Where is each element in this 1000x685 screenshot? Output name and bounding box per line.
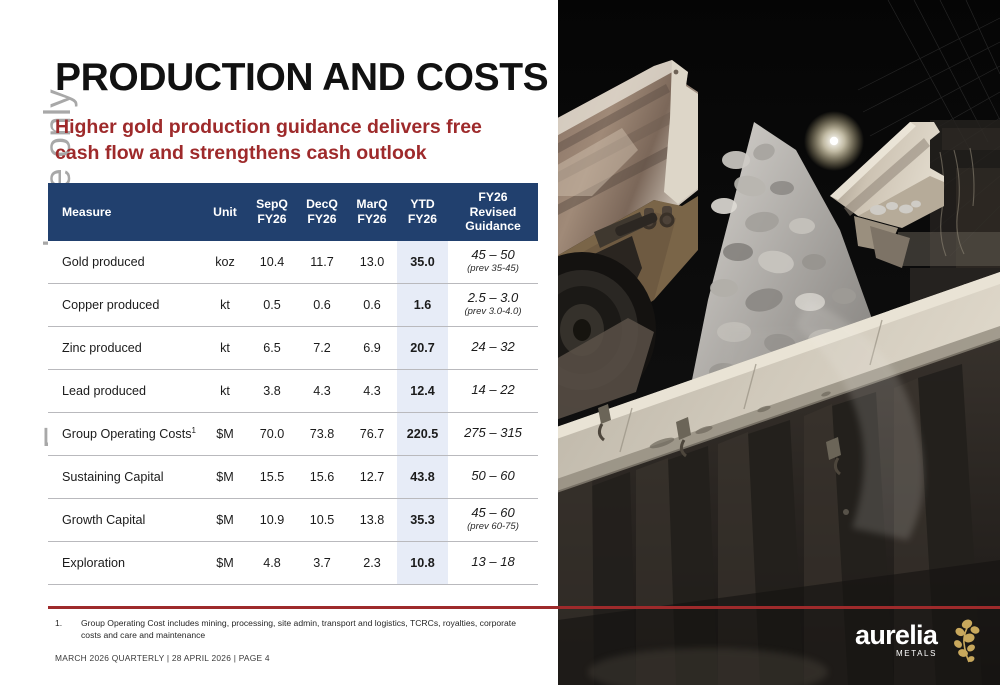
cell-marq: 2.3 <box>347 541 397 584</box>
cell-guidance: 14 – 22 <box>448 369 538 412</box>
col-marq-line2: FY26 <box>357 212 386 226</box>
cell-unit: kt <box>203 283 247 326</box>
footnote-number: 1. <box>55 617 62 629</box>
cell-sepq: 6.5 <box>247 326 297 369</box>
cell-sepq: 10.4 <box>247 241 297 284</box>
guidance-range: 14 – 22 <box>471 382 514 397</box>
logo-wordmark: aurelia <box>855 622 937 649</box>
cell-measure: Copper produced <box>48 283 203 326</box>
col-guidance-line3: Guidance <box>465 219 521 233</box>
guidance-range: 24 – 32 <box>471 339 514 354</box>
table-row: Zinc producedkt6.57.26.920.724 – 32 <box>48 326 538 369</box>
guidance-range: 50 – 60 <box>471 468 514 483</box>
cell-measure: Gold produced <box>48 241 203 284</box>
cell-decq: 15.6 <box>297 455 347 498</box>
cell-ytd: 43.8 <box>397 455 448 498</box>
cell-marq: 0.6 <box>347 283 397 326</box>
cell-ytd: 20.7 <box>397 326 448 369</box>
col-sepq-line1: SepQ <box>256 197 288 211</box>
table-body: Gold producedkoz10.411.713.035.045 – 50(… <box>48 241 538 585</box>
cell-marq: 6.9 <box>347 326 397 369</box>
table-header-row: Measure Unit SepQ FY26 DecQ FY26 MarQ F <box>48 183 538 241</box>
table-row: Sustaining Capital$M15.515.612.743.850 –… <box>48 455 538 498</box>
column-header-unit: Unit <box>203 183 247 241</box>
cell-guidance: 13 – 18 <box>448 541 538 584</box>
column-header-measure: Measure <box>48 183 203 241</box>
page-subtitle: Higher gold production guidance delivers… <box>55 114 495 166</box>
cell-unit: kt <box>203 326 247 369</box>
col-ytd-line2: FY26 <box>408 212 437 226</box>
cell-guidance: 45 – 50(prev 35-45) <box>448 241 538 284</box>
col-decq-line1: DecQ <box>306 197 338 211</box>
cell-decq: 0.6 <box>297 283 347 326</box>
footnote-text: Group Operating Cost includes mining, pr… <box>81 617 525 642</box>
logo-subtext: METALS <box>896 649 937 658</box>
column-header-sepq: SepQ FY26 <box>247 183 297 241</box>
footnote-marker: 1 <box>192 426 196 435</box>
cell-unit: koz <box>203 241 247 284</box>
cell-sepq: 4.8 <box>247 541 297 584</box>
cell-sepq: 10.9 <box>247 498 297 541</box>
production-and-costs-table: Measure Unit SepQ FY26 DecQ FY26 MarQ F <box>48 183 538 585</box>
cell-unit: $M <box>203 541 247 584</box>
cell-decq: 11.7 <box>297 241 347 284</box>
cell-decq: 73.8 <box>297 412 347 455</box>
left-content-column: PRODUCTION AND COSTS Higher gold product… <box>0 0 558 685</box>
col-marq-line1: MarQ <box>356 197 387 211</box>
cell-guidance: 45 – 60(prev 60-75) <box>448 498 538 541</box>
aurelia-metals-logo: aurelia METALS <box>855 622 985 666</box>
cell-sepq: 70.0 <box>247 412 297 455</box>
col-sepq-line2: FY26 <box>257 212 286 226</box>
cell-decq: 7.2 <box>297 326 347 369</box>
cell-decq: 10.5 <box>297 498 347 541</box>
col-guidance-line1: FY26 <box>478 190 507 204</box>
guidance-range: 45 – 50 <box>471 247 514 262</box>
cell-ytd: 12.4 <box>397 369 448 412</box>
cell-marq: 12.7 <box>347 455 397 498</box>
cell-measure: Sustaining Capital <box>48 455 203 498</box>
guidance-previous: (prev 35-45) <box>448 264 538 275</box>
cell-marq: 76.7 <box>347 412 397 455</box>
footer-meta: MARCH 2026 QUARTERLY | 28 APRIL 2026 | P… <box>55 653 270 663</box>
guidance-range: 13 – 18 <box>471 554 514 569</box>
cell-ytd: 35.0 <box>397 241 448 284</box>
cell-marq: 13.8 <box>347 498 397 541</box>
cell-marq: 13.0 <box>347 241 397 284</box>
table-row: Copper producedkt0.50.60.61.62.5 – 3.0(p… <box>48 283 538 326</box>
cell-sepq: 3.8 <box>247 369 297 412</box>
table-row: Gold producedkoz10.411.713.035.045 – 50(… <box>48 241 538 284</box>
cell-decq: 4.3 <box>297 369 347 412</box>
cell-unit: kt <box>203 369 247 412</box>
footer-divider-rule <box>48 606 1000 609</box>
cell-guidance: 275 – 315 <box>448 412 538 455</box>
cell-marq: 4.3 <box>347 369 397 412</box>
cell-sepq: 0.5 <box>247 283 297 326</box>
table-row: Exploration$M4.83.72.310.813 – 18 <box>48 541 538 584</box>
cell-ytd: 10.8 <box>397 541 448 584</box>
cell-measure: Zinc produced <box>48 326 203 369</box>
guidance-previous: (prev 3.0-4.0) <box>448 307 538 318</box>
cell-measure: Exploration <box>48 541 203 584</box>
cell-unit: $M <box>203 498 247 541</box>
cell-measure: Lead produced <box>48 369 203 412</box>
table-row: Growth Capital$M10.910.513.835.345 – 60(… <box>48 498 538 541</box>
cell-unit: $M <box>203 455 247 498</box>
page-title: PRODUCTION AND COSTS <box>55 58 548 99</box>
guidance-previous: (prev 60-75) <box>448 522 538 533</box>
cell-ytd: 220.5 <box>397 412 448 455</box>
cell-guidance: 50 – 60 <box>448 455 538 498</box>
cell-ytd: 1.6 <box>397 283 448 326</box>
table-row: Group Operating Costs1$M70.073.876.7220.… <box>48 412 538 455</box>
cell-ytd: 35.3 <box>397 498 448 541</box>
gold-leaf-mark-icon <box>947 618 981 669</box>
table-row: Lead producedkt3.84.34.312.414 – 22 <box>48 369 538 412</box>
cell-sepq: 15.5 <box>247 455 297 498</box>
column-header-decq: DecQ FY26 <box>297 183 347 241</box>
guidance-range: 2.5 – 3.0 <box>468 290 519 305</box>
col-ytd-line1: YTD <box>410 197 434 211</box>
cell-measure: Group Operating Costs1 <box>48 412 203 455</box>
cell-decq: 3.7 <box>297 541 347 584</box>
guidance-range: 45 – 60 <box>471 505 514 520</box>
guidance-range: 275 – 315 <box>464 425 522 440</box>
cell-guidance: 2.5 – 3.0(prev 3.0-4.0) <box>448 283 538 326</box>
column-header-marq: MarQ FY26 <box>347 183 397 241</box>
cell-unit: $M <box>203 412 247 455</box>
col-decq-line2: FY26 <box>307 212 336 226</box>
footnote: 1. Group Operating Cost includes mining,… <box>55 617 525 642</box>
column-header-ytd: YTD FY26 <box>397 183 448 241</box>
cell-measure: Growth Capital <box>48 498 203 541</box>
col-guidance-line2: Revised <box>470 205 517 219</box>
column-header-guidance: FY26 Revised Guidance <box>448 183 538 241</box>
cell-guidance: 24 – 32 <box>448 326 538 369</box>
slide: For personal use only PRODUCTION AND COS… <box>0 0 1000 685</box>
table: Measure Unit SepQ FY26 DecQ FY26 MarQ F <box>48 183 538 585</box>
mine-site-photo <box>558 0 1000 685</box>
